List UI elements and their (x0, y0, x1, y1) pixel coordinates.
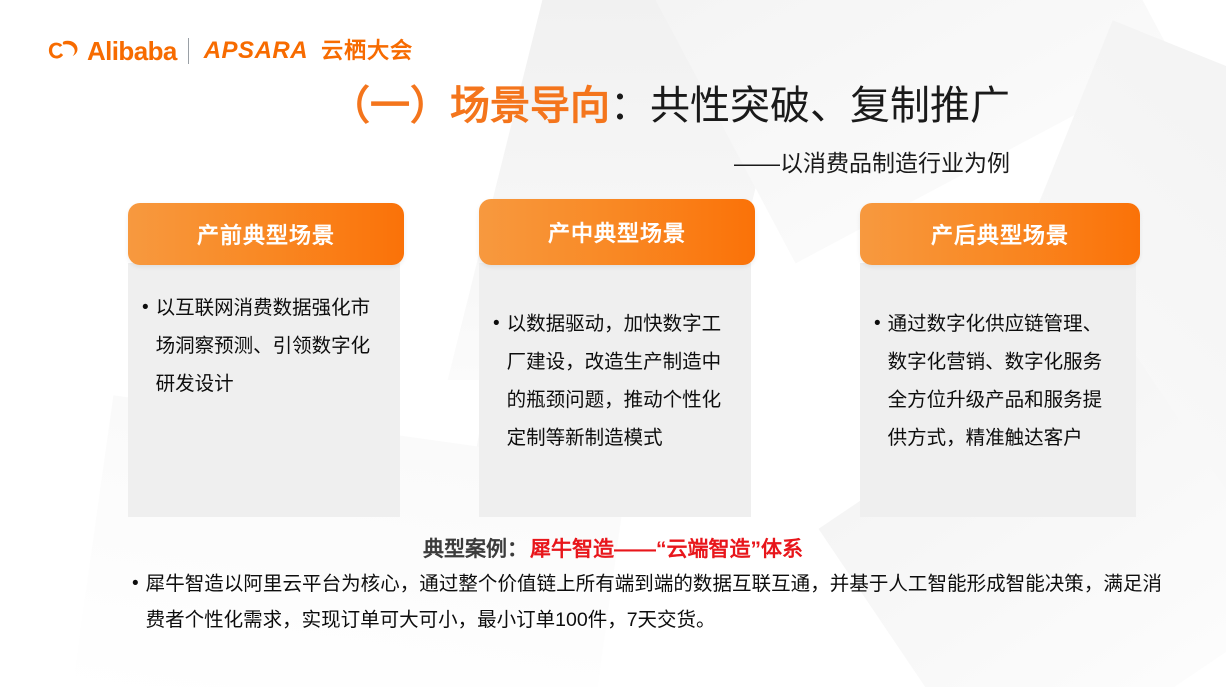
case-study-body-text: 犀牛智造以阿里云平台为核心，通过整个价值链上所有端到端的数据互联互通，并基于人工… (146, 566, 1162, 638)
card-body-pre-production: • 以互联网消费数据强化市场洞察预测、引领数字化研发设计 (128, 263, 400, 517)
card-header-post-production: 产后典型场景 (860, 203, 1140, 265)
card-bullet-text: 以数据驱动，加快数字工厂建设，改造生产制造中的瓶颈问题，推动个性化定制等新制造模… (507, 305, 733, 457)
page-subtitle: ——以消费品制造行业为例 (0, 144, 1010, 178)
card-header-in-production: 产中典型场景 (479, 199, 755, 265)
slide-canvas: Alibaba APSARA 云栖大会 （一）场景导向：共性突破、复制推广 ——… (0, 0, 1226, 687)
card-bullet-text: 以互联网消费数据强化市场洞察预测、引领数字化研发设计 (156, 289, 382, 403)
title-number: （一） (330, 84, 450, 128)
card-header-pre-production: 产前典型场景 (128, 203, 404, 265)
card-bullet: • 通过数字化供应链管理、数字化营销、数字化服务全方位升级产品和服务提供方式，精… (874, 305, 1118, 457)
apsara-wordmark-cn: 云栖大会 (321, 40, 413, 62)
card-bullet-text: 通过数字化供应链管理、数字化营销、数字化服务全方位升级产品和服务提供方式，精准触… (888, 305, 1118, 457)
bullet-icon: • (874, 305, 881, 342)
card-body-in-production: • 以数据驱动，加快数字工厂建设，改造生产制造中的瓶颈问题，推动个性化定制等新制… (479, 263, 751, 517)
page-title: （一）场景导向：共性突破、复制推广 (0, 84, 1010, 128)
alibaba-mark-icon (48, 38, 78, 64)
title-rest: ：共性突破、复制推广 (610, 84, 1010, 128)
bullet-icon: • (142, 289, 149, 326)
card-bullet: • 以互联网消费数据强化市场洞察预测、引领数字化研发设计 (142, 289, 382, 403)
apsara-wordmark: APSARA (204, 39, 308, 63)
title-block: （一）场景导向：共性突破、复制推广 ——以消费品制造行业为例 (0, 84, 1010, 178)
case-study-body: • 犀牛智造以阿里云平台为核心，通过整个价值链上所有端到端的数据互联互通，并基于… (132, 566, 1162, 638)
card-bullet: • 以数据驱动，加快数字工厂建设，改造生产制造中的瓶颈问题，推动个性化定制等新制… (493, 305, 733, 457)
case-study-value: 犀牛智造——“云端智造”体系 (530, 538, 803, 561)
title-keyword: 场景导向 (450, 84, 610, 128)
card-body-post-production: • 通过数字化供应链管理、数字化营销、数字化服务全方位升级产品和服务提供方式，精… (860, 263, 1136, 517)
bullet-icon: • (493, 305, 500, 342)
alibaba-wordmark: Alibaba (87, 38, 177, 64)
case-study-heading: 典型案例：犀牛智造——“云端智造”体系 (0, 533, 1226, 563)
brand-logo: Alibaba APSARA 云栖大会 (48, 38, 413, 64)
bullet-icon: • (132, 566, 139, 601)
logo-divider (188, 38, 189, 64)
case-study-label: 典型案例： (423, 538, 528, 561)
